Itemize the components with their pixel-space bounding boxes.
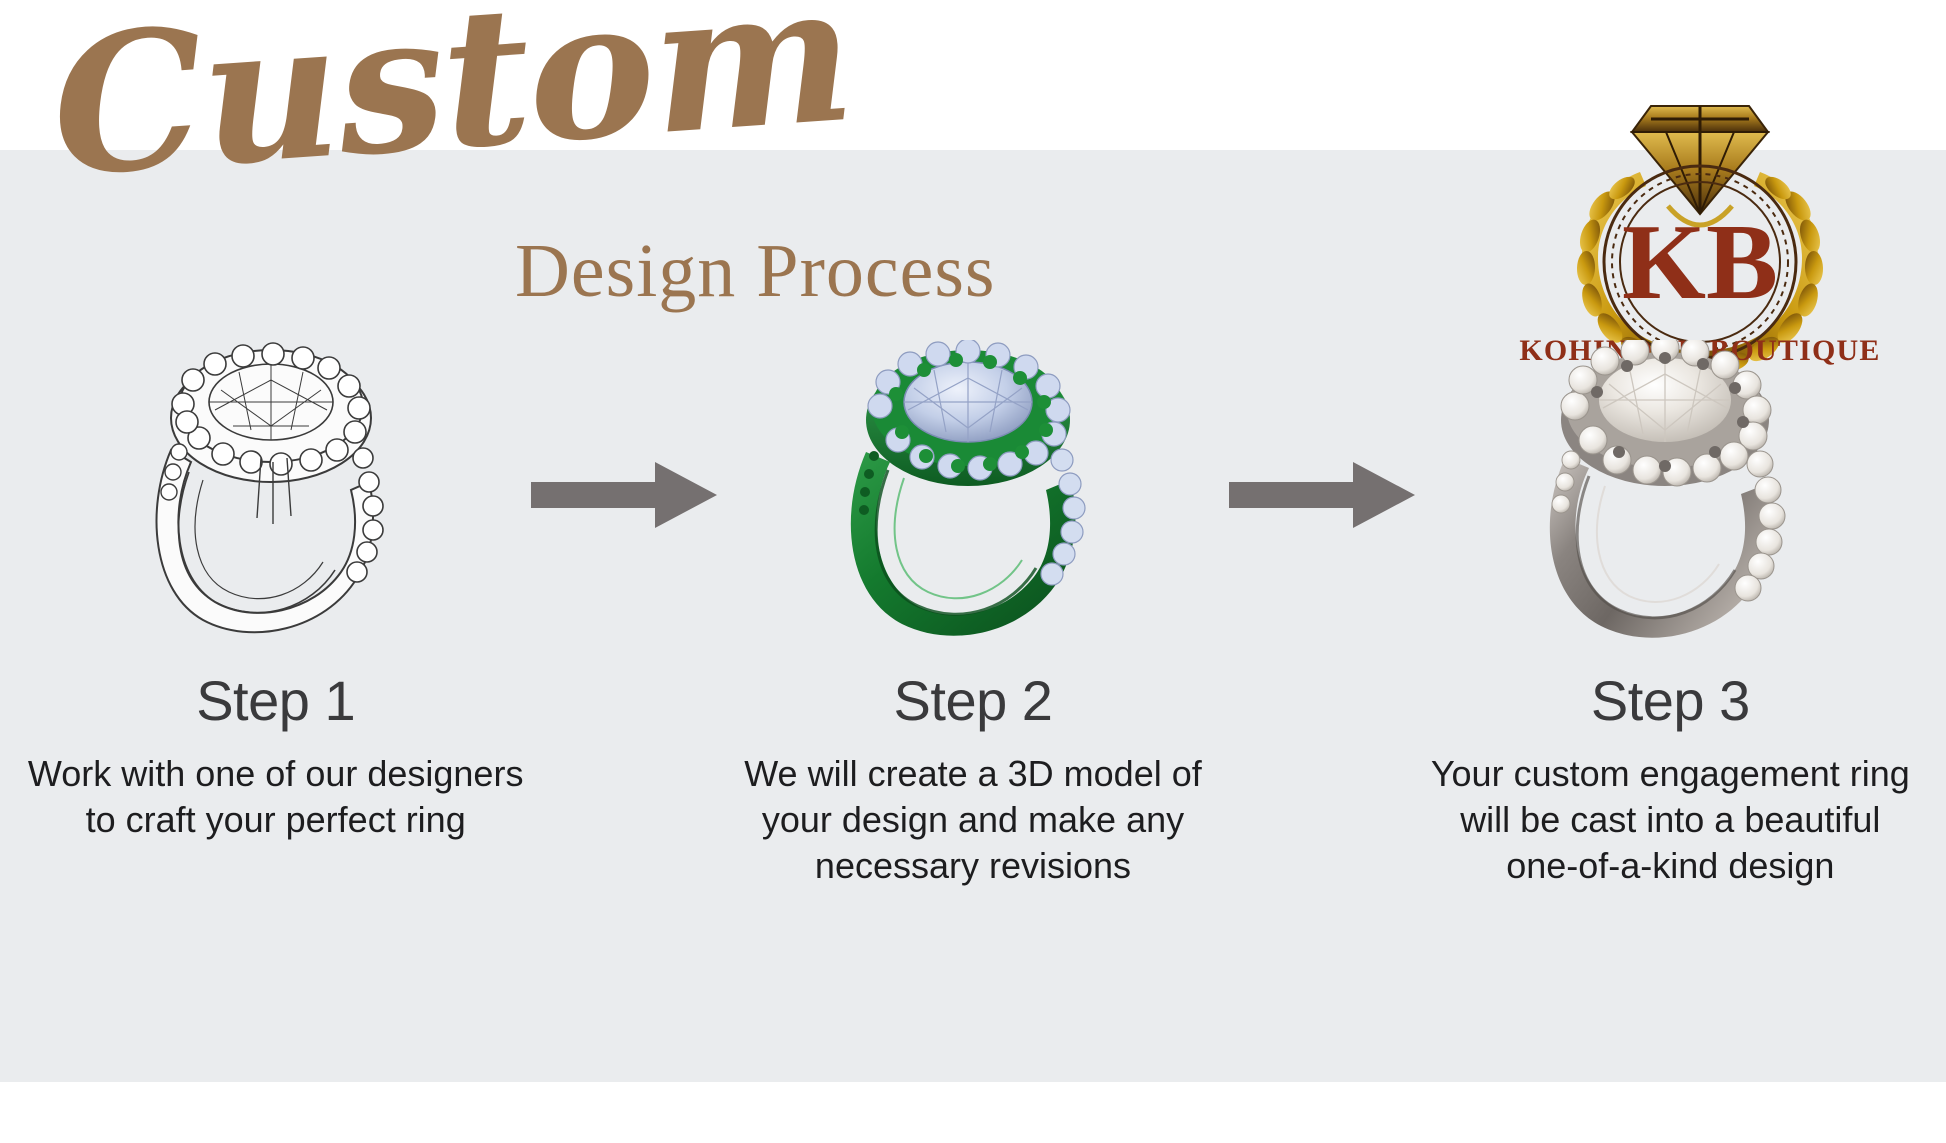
step-title: Step 1 xyxy=(196,668,355,733)
step-description: Your custom engagement ring will be cast… xyxy=(1431,751,1910,889)
step-title: Step 3 xyxy=(1591,668,1750,733)
step-card-3: Step 3 Your custom engagement ring will … xyxy=(1415,340,1926,889)
arrow-step2-to-step3 xyxy=(1229,340,1415,530)
step-card-1: Step 1 Work with one of our designers to… xyxy=(20,340,531,843)
arrow-step1-to-step2 xyxy=(531,340,717,530)
ring-cad-model-illustration xyxy=(808,340,1138,640)
step-title: Step 2 xyxy=(894,668,1053,733)
logo-monogram: KB xyxy=(1622,203,1778,322)
process-steps-row: Step 1 Work with one of our designers to… xyxy=(0,340,1946,1060)
page-subtitle: Design Process xyxy=(515,228,996,314)
ring-sketch-illustration xyxy=(111,340,441,640)
step-card-2: Step 2 We will create a 3D model of your… xyxy=(717,340,1228,889)
step-description: We will create a 3D model of your design… xyxy=(744,751,1202,889)
brand-logo: KB KOHINOOR BOUTIQUE xyxy=(1516,66,1884,376)
poster-canvas: Custom Design Process xyxy=(0,0,1946,1143)
ring-finished-photo xyxy=(1505,340,1835,640)
step-description: Work with one of our designers to craft … xyxy=(28,751,524,843)
